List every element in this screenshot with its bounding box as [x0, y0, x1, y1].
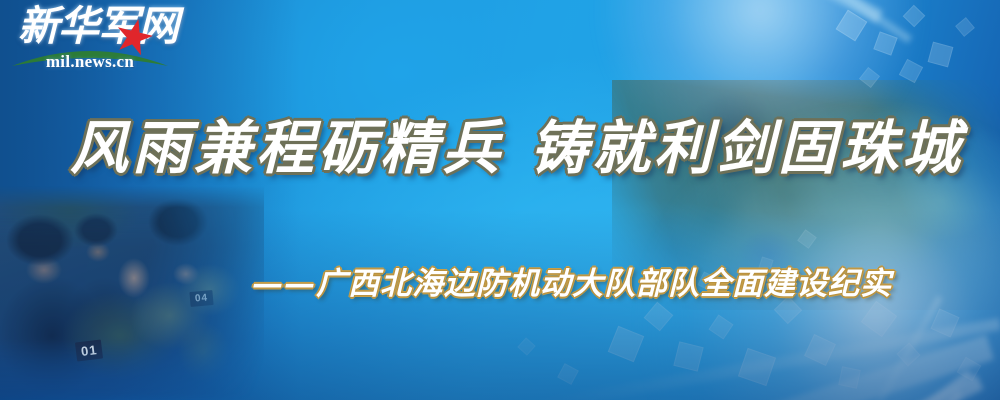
- headline-part-one: 风雨兼程砺精兵: [70, 114, 504, 182]
- logo-url-text: mil.news.cn: [10, 52, 170, 72]
- page-title: 风雨兼程砺精兵铸就利剑固珠城: [70, 118, 960, 179]
- photo-soldiers-advancing: 01 04: [0, 186, 264, 400]
- page-subtitle: ——广西北海边防机动大队部队全面建设纪实: [252, 258, 892, 303]
- site-logo[interactable]: 新华军网 mil.news.cn: [10, 4, 170, 80]
- soldier-number-badge: 04: [189, 290, 213, 307]
- military-news-banner: 01 04 新华军网 mil.news.cn 风雨兼程砺精兵铸就利剑固珠城 ——…: [0, 0, 1000, 400]
- headline-part-two: 铸就利剑固珠城: [530, 114, 964, 182]
- photo-soldiers-blue-tint: [0, 186, 264, 400]
- soldier-number-badge: 01: [75, 339, 104, 361]
